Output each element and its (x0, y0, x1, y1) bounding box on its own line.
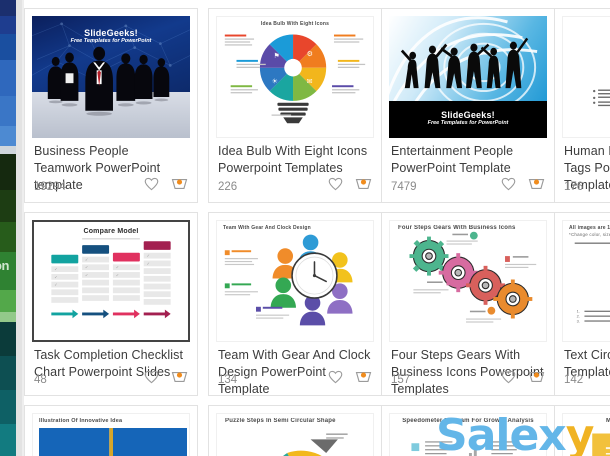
thumb-caption-main: SlideGeeks! (389, 110, 547, 120)
edge-clipped-label: on (0, 258, 16, 273)
svg-text:✓: ✓ (54, 283, 57, 287)
gears-diagram (390, 221, 546, 330)
page-viewport: on (0, 0, 610, 456)
svg-text:✓: ✓ (85, 258, 88, 262)
caption-band: SlideGeeks! Free Templates for PowerPoin… (389, 101, 547, 138)
svg-text:✓: ✓ (54, 268, 57, 272)
edge-band (0, 60, 16, 96)
left-edge-strip: on (0, 0, 16, 456)
edge-band (0, 222, 16, 252)
card-thumbnail[interactable]: SlideGeeks! Free Templates for PowerPoin… (389, 16, 547, 138)
download-count: 134 (218, 374, 237, 386)
card-thumbnail[interactable]: Illustration Of Innovative Idea (32, 413, 190, 456)
download-icon[interactable] (171, 177, 188, 196)
svg-text:⚙: ⚙ (307, 50, 313, 58)
card-footer: 134 (218, 370, 372, 389)
edge-band (0, 34, 16, 60)
edge-band (0, 126, 16, 146)
marketing-mix-diagram (563, 414, 610, 456)
template-card[interactable]: Edit Color 1 (554, 8, 610, 203)
template-card[interactable]: Four Steps Gears With Business Icons (381, 212, 555, 396)
thumb-art-text-circle: All images are 100% editable *Change col… (563, 221, 610, 341)
svg-text:☀: ☀ (272, 77, 278, 85)
card-footer: 176 (564, 177, 610, 196)
template-card-grid: SlideGeeks! Free Templates for PowerPoin… (24, 0, 610, 456)
card-actions (501, 177, 545, 196)
edge-band (0, 16, 16, 34)
svg-text:✓: ✓ (147, 262, 150, 266)
bulb-diagram: ⚙⚑ ✉☀ (217, 17, 373, 126)
card-actions (501, 370, 545, 389)
edge-band (0, 190, 16, 222)
svg-text:✓: ✓ (85, 273, 88, 277)
team-clock-diagram (217, 221, 373, 330)
heart-icon[interactable] (328, 177, 343, 196)
template-card[interactable]: SlideGeeks! Free Templates for PowerPoin… (24, 8, 198, 203)
download-count: 48 (34, 374, 47, 386)
svg-text:✓: ✓ (116, 266, 119, 270)
download-count: 19294 (34, 181, 66, 193)
card-footer: 157 (391, 370, 545, 389)
card-footer: 48 (34, 370, 188, 389)
card-actions (328, 177, 372, 196)
thumb-art-puzzle-semi-circular: Puzzle Steps In Semi Circular Shape (217, 414, 373, 456)
thumb-art-compare-model: Compare Model (34, 222, 188, 340)
card-thumbnail[interactable]: Compare Model (32, 220, 190, 342)
download-count: 7479 (391, 181, 417, 193)
download-count: 226 (218, 181, 237, 193)
svg-text:3.: 3. (577, 318, 580, 323)
people-silhouettes (32, 16, 190, 135)
card-thumbnail[interactable]: Idea Bulb With Eight Icons (216, 16, 374, 138)
svg-text:✓: ✓ (116, 273, 119, 277)
download-icon[interactable] (171, 370, 188, 389)
edge-band (0, 146, 16, 154)
card-actions (144, 370, 188, 389)
download-count: 157 (391, 374, 410, 386)
heart-icon[interactable] (501, 177, 516, 196)
edge-band (0, 154, 16, 190)
download-icon[interactable] (355, 177, 372, 196)
bulb-panels (39, 428, 187, 456)
card-thumbnail[interactable]: Four Steps Gears With Business Icons (389, 220, 547, 342)
template-card[interactable]: Illustration Of Innovative Idea (24, 405, 198, 456)
edge-band (0, 312, 16, 322)
thumb-art-human-brain: Edit Color 1 (563, 17, 610, 137)
template-card[interactable]: Puzzle Steps In Semi Circular Shape (208, 405, 382, 456)
download-count: 176 (564, 181, 583, 193)
download-icon[interactable] (355, 370, 372, 389)
card-thumbnail[interactable]: Team With Gear And Clock Design (216, 220, 374, 342)
edge-band (0, 390, 16, 424)
brain-diagram: 1 (563, 17, 610, 126)
card-body: Entertainment People PowerPoint Template (391, 143, 545, 177)
card-thumbnail[interactable]: Edit Color 1 (562, 16, 610, 138)
card-thumbnail[interactable]: Marketing Mix Strategy (562, 413, 610, 456)
template-card[interactable]: All images are 100% editable *Change col… (554, 212, 610, 396)
edge-band (0, 424, 16, 456)
card-footer: 226 (218, 177, 372, 196)
edge-band (0, 322, 16, 356)
thumb-caption-sub: Free Templates for PowerPoint (389, 120, 547, 126)
card-thumbnail[interactable]: Speedometer Diagram For Growth Analysis (389, 413, 547, 456)
thumb-art-speedometer: Speedometer Diagram For Growth Analysis (390, 414, 546, 456)
thumb-art-team-gear-clock: Team With Gear And Clock Design (217, 221, 373, 341)
heart-icon[interactable] (144, 177, 159, 196)
puzzle-diagram (217, 414, 373, 456)
edge-band (0, 290, 16, 312)
template-card[interactable]: Team With Gear And Clock Design (208, 212, 382, 396)
thumb-art-entertainment-people: SlideGeeks! Free Templates for PowerPoin… (389, 16, 547, 138)
card-footer: 142 (564, 370, 610, 389)
thumb-art-four-steps-gears: Four Steps Gears With Business Icons (390, 221, 546, 341)
edge-band (0, 96, 16, 126)
download-icon[interactable] (528, 370, 545, 389)
card-thumbnail[interactable]: SlideGeeks! Free Templates for PowerPoin… (32, 16, 190, 138)
thumb-art-marketing-mix: Marketing Mix Strategy (563, 414, 610, 456)
svg-text:✓: ✓ (147, 254, 150, 258)
template-card[interactable]: SlideGeeks! Free Templates for PowerPoin… (381, 8, 555, 203)
thumb-caption-main: Illustration Of Innovative Idea (39, 418, 181, 424)
card-footer: 7479 (391, 177, 545, 196)
card-thumbnail[interactable]: Puzzle Steps In Semi Circular Shape (216, 413, 374, 456)
speedometer-diagram (390, 414, 546, 456)
download-count: 142 (564, 374, 583, 386)
svg-text:✓: ✓ (85, 266, 88, 270)
card-title: Entertainment People PowerPoint Template (391, 143, 545, 177)
template-card[interactable]: Marketing Mix Strategy (554, 405, 610, 456)
template-card[interactable]: Idea Bulb With Eight Icons (208, 8, 382, 203)
edge-band (0, 356, 16, 390)
text-circle-diagram: 1 1. 2. 3. (563, 221, 610, 330)
edge-band (0, 0, 16, 16)
heart-icon[interactable] (144, 370, 159, 389)
card-thumbnail[interactable]: All images are 100% editable *Change col… (562, 220, 610, 342)
thumb-art-idea-bulb: Idea Bulb With Eight Icons (217, 17, 373, 137)
template-card[interactable]: Speedometer Diagram For Growth Analysis (381, 405, 555, 456)
heart-icon[interactable] (501, 370, 516, 389)
card-body: Idea Bulb With Eight Icons Powerpoint Te… (218, 143, 372, 177)
svg-text:✉: ✉ (307, 78, 313, 85)
thumb-art-business-people: SlideGeeks! Free Templates for PowerPoin… (32, 16, 190, 138)
comparison-columns: ✓✓✓ ✓✓✓ ✓✓ ✓✓ (34, 222, 188, 330)
download-icon[interactable] (528, 177, 545, 196)
template-card[interactable]: Compare Model (24, 212, 198, 396)
heart-icon[interactable] (328, 370, 343, 389)
svg-text:⚑: ⚑ (274, 52, 280, 60)
thumb-art-innovative-idea: Illustration Of Innovative Idea (33, 414, 189, 456)
card-footer: 19294 (34, 177, 188, 196)
card-title: Idea Bulb With Eight Icons Powerpoint Te… (218, 143, 372, 177)
svg-text:✓: ✓ (54, 275, 57, 279)
card-actions (144, 177, 188, 196)
card-actions (328, 370, 372, 389)
